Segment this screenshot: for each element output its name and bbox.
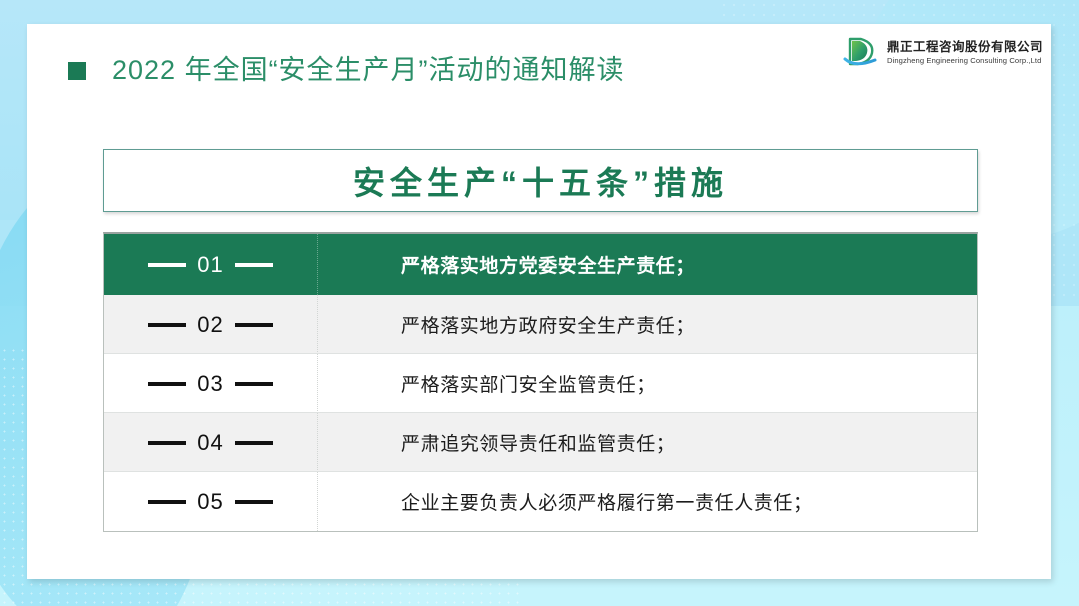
dash-right-icon [235, 441, 273, 445]
measure-text: 严格落实地方政府安全生产责任； [318, 311, 977, 338]
measure-text: 严格落实地方党委安全生产责任； [318, 251, 977, 278]
dash-left-icon [148, 441, 186, 445]
dash-left-icon [148, 382, 186, 386]
slide-header: 2022 年全国“安全生产月”活动的通知解读 [27, 24, 1051, 116]
section-title-box: 安全生产“十五条”措施 [103, 149, 978, 212]
measure-number: 04 [197, 430, 223, 456]
table-row[interactable]: 01 严格落实地方党委安全生产责任； [104, 234, 977, 295]
measure-number: 05 [197, 489, 223, 515]
company-name-cn: 鼎正工程咨询股份有限公司 [887, 41, 1043, 54]
dash-left-icon [148, 263, 186, 267]
measure-text: 企业主要负责人必须严格履行第一责任人责任； [318, 488, 977, 515]
company-logo: 鼎正工程咨询股份有限公司 Dingzheng Engineering Consu… [841, 35, 1043, 71]
table-row[interactable]: 05 企业主要负责人必须严格履行第一责任人责任； [104, 472, 977, 531]
page-title: 2022 年全国“安全生产月”活动的通知解读 [112, 50, 625, 90]
dash-left-icon [148, 323, 186, 327]
measure-number-cell: 04 [104, 413, 318, 472]
company-name-en: Dingzheng Engineering Consulting Corp.,L… [887, 57, 1043, 65]
table-row[interactable]: 03 严格落实部门安全监管责任； [104, 354, 977, 413]
measure-text: 严格落实部门安全监管责任； [318, 370, 977, 397]
measure-number-cell: 05 [104, 472, 318, 531]
table-row[interactable]: 04 严肃追究领导责任和监管责任； [104, 413, 977, 472]
measure-number-cell: 02 [104, 295, 318, 354]
section-title: 安全生产“十五条”措施 [353, 158, 728, 204]
measure-number-cell: 01 [104, 234, 318, 295]
dash-right-icon [235, 382, 273, 386]
measure-number: 02 [197, 312, 223, 338]
square-bullet-icon [68, 62, 86, 80]
measure-number: 03 [197, 371, 223, 397]
measure-number-cell: 03 [104, 354, 318, 413]
dash-right-icon [235, 500, 273, 504]
dingzheng-d-logo-icon [841, 35, 881, 71]
dash-right-icon [235, 263, 273, 267]
table-row[interactable]: 02 严格落实地方政府安全生产责任； [104, 295, 977, 354]
dash-right-icon [235, 323, 273, 327]
measures-table: 01 严格落实地方党委安全生产责任； 02 严格落实地方政府安全生产责任； 03 [103, 232, 978, 532]
dash-left-icon [148, 500, 186, 504]
measure-text: 严肃追究领导责任和监管责任； [318, 429, 977, 456]
slide-background: 2022 年全国“安全生产月”活动的通知解读 [0, 0, 1079, 606]
measure-number: 01 [197, 252, 223, 278]
logo-text-block: 鼎正工程咨询股份有限公司 Dingzheng Engineering Consu… [887, 41, 1043, 64]
slide-card: 2022 年全国“安全生产月”活动的通知解读 [27, 24, 1051, 579]
